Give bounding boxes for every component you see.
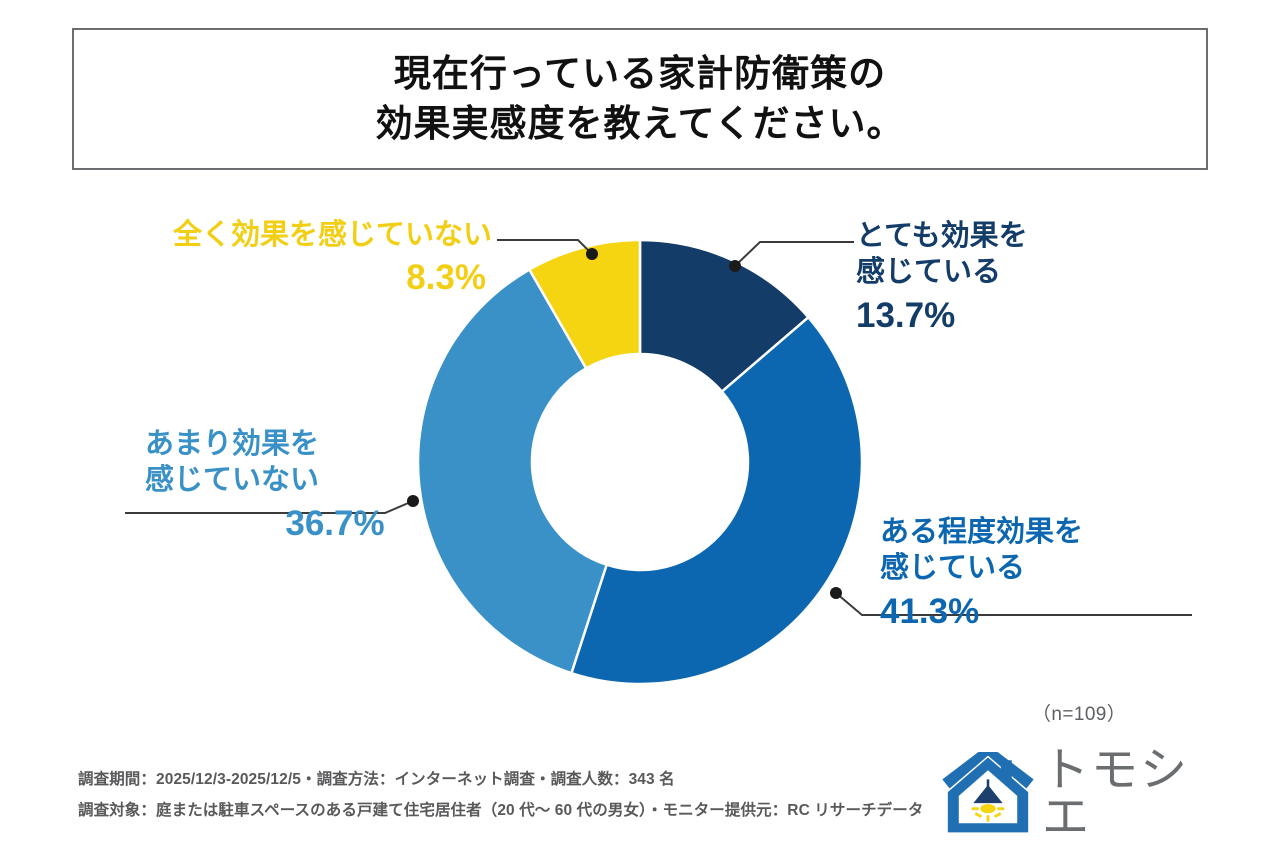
callout-none: 全く効果を感じていない 8.3%	[82, 217, 492, 300]
title-box: 現在行っている家計防衛策の 効果実感度を教えてください。	[72, 28, 1208, 170]
lamp-light-rays	[972, 804, 1005, 822]
callout-little-label-line-2: 感じていない	[145, 462, 445, 498]
callout-none-percent: 8.3%	[82, 256, 492, 300]
callout-very-label-line-1: とても効果を	[856, 218, 1186, 254]
page-title-line-2: 効果実感度を教えてください。	[375, 99, 904, 149]
brand-logo: トモシエ	[942, 752, 1210, 836]
page-title-line-1: 現在行っている家計防衛策の	[394, 49, 886, 99]
house-lamp-icon	[942, 752, 1034, 836]
callout-some-label-line-1: ある程度効果を	[880, 514, 1220, 550]
callout-very: とても効果を 感じている 13.7%	[856, 218, 1186, 337]
callout-very-percent: 13.7%	[856, 294, 1186, 338]
logo-wordmark: トモシエ	[1042, 747, 1210, 841]
footer-note-line-1: 調査期間：2025/12/3-2025/12/5・調査方法：インターネット調査・…	[78, 764, 924, 795]
callout-some-percent: 41.3%	[880, 590, 1220, 634]
callout-none-label: 全く効果を感じていない	[82, 217, 492, 253]
footer-notes: 調査期間：2025/12/3-2025/12/5・調査方法：インターネット調査・…	[78, 764, 924, 826]
sample-size-note: （n=109）	[1032, 699, 1126, 726]
callout-little-percent: 36.7%	[145, 502, 445, 546]
callout-little: あまり効果を 感じていない 36.7%	[145, 426, 445, 545]
donut-chart: 全く効果を感じていない 8.3% とても効果を 感じている 13.7% あまり効…	[0, 170, 1280, 730]
callout-very-label-line-2: 感じている	[856, 254, 1186, 290]
footer-note-line-2: 調査対象：庭または駐車スペースのある戸建て住宅居住者（20 代〜 60 代の男女…	[78, 795, 924, 826]
callout-some: ある程度効果を 感じている 41.3%	[880, 514, 1220, 633]
callout-little-label-line-1: あまり効果を	[145, 426, 445, 462]
lamp-shade-shape	[973, 785, 1002, 803]
callout-some-label-line-2: 感じている	[880, 550, 1220, 586]
